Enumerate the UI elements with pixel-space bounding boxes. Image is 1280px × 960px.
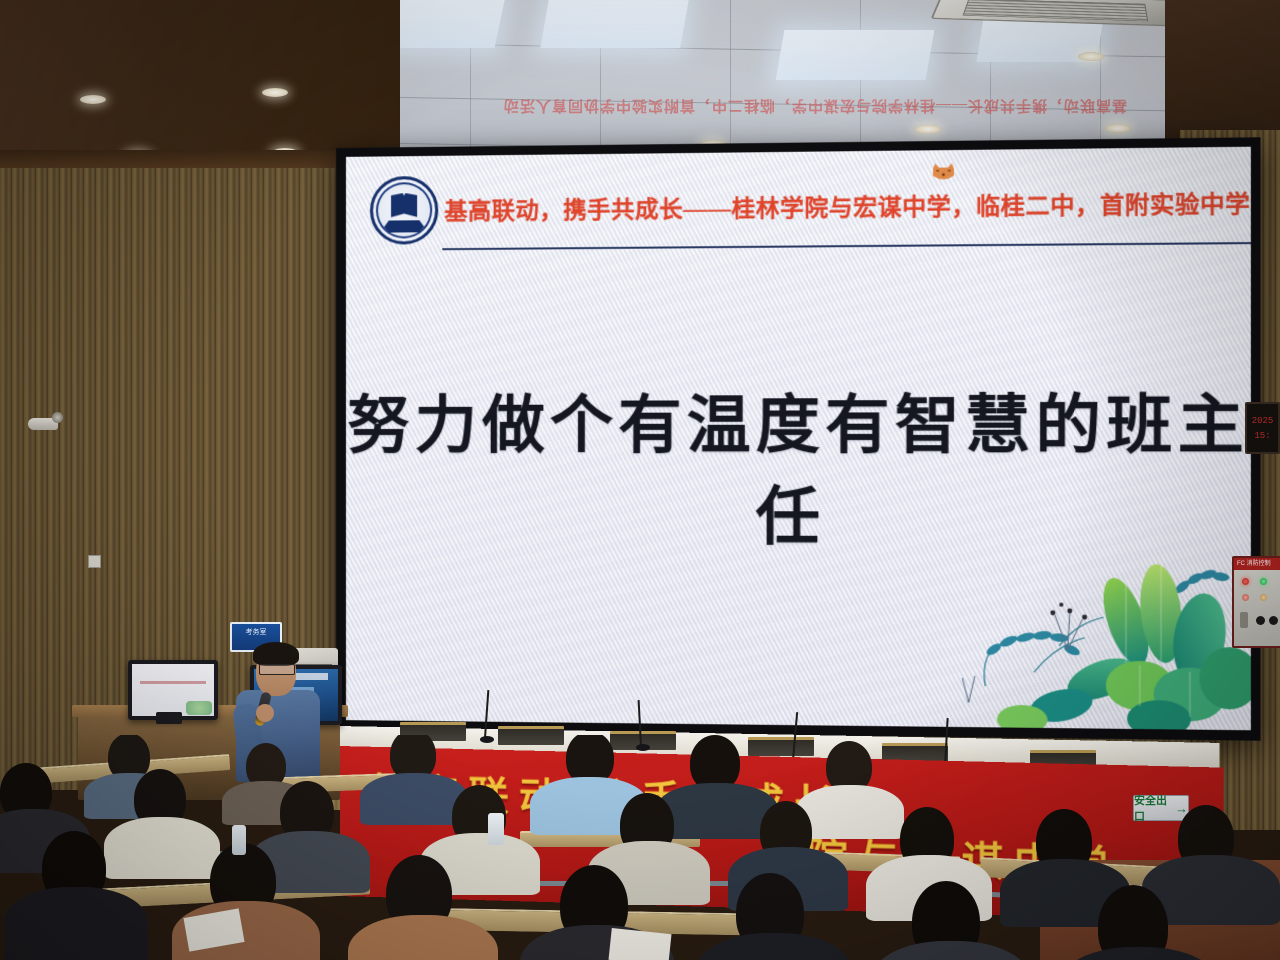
clock-date-line: 2025 — [1247, 414, 1278, 429]
water-bottle — [232, 825, 246, 855]
green-plant-illustration-icon — [933, 522, 1251, 730]
guilin-university-emblem-icon — [370, 176, 438, 245]
ceiling-downlight — [1078, 52, 1104, 61]
digital-clock-display: 2025 15: — [1245, 402, 1280, 454]
ceiling-downlight — [1105, 124, 1131, 133]
projection-screen: 基高联动，携手共成长——桂林学院与宏谋中学，临桂二中，首附实验中学协同育人活动 … — [336, 137, 1261, 740]
security-camera-lens-icon — [52, 412, 63, 423]
fire-panel-led-amber — [1260, 594, 1267, 601]
room-sign-label: 考务室 — [246, 629, 267, 636]
ceiling-banner-reflection: 基高联动，携手共成长——桂林学院与宏谋中学，临桂二中，首附实验中学协同育人活动 — [420, 96, 1210, 117]
fire-panel-led-green — [1260, 578, 1267, 585]
ceiling-panel-light — [540, 0, 690, 48]
slide-banner-text: 基高联动，携手共成长——桂林学院与宏谋中学，临桂二中，首附实验中学协同育人活动 — [444, 184, 1236, 226]
audience-body — [104, 817, 220, 879]
audience-body — [872, 941, 1030, 960]
ceiling-panel-light — [776, 30, 935, 80]
fire-panel-button[interactable] — [1256, 616, 1265, 625]
paper-notes — [608, 928, 671, 960]
ceiling-downlight — [80, 95, 106, 104]
ceiling-downlight — [262, 88, 288, 97]
audience-seating-area — [0, 735, 1280, 960]
clock-time-line: 15: — [1247, 429, 1278, 444]
presenter-hair — [253, 642, 299, 666]
slide-surface: 基高联动，携手共成长——桂林学院与宏谋中学，临桂二中，首附实验中学协同育人活动 … — [346, 147, 1251, 731]
fire-panel-button[interactable] — [1269, 616, 1278, 625]
fire-panel-led-dim — [1242, 594, 1249, 601]
slide-header-rule — [442, 242, 1251, 250]
audience-body — [696, 933, 852, 960]
wall-trim — [0, 150, 345, 168]
wall-outlet — [88, 555, 101, 568]
monitor-left-stand — [156, 712, 182, 724]
fire-panel-switch[interactable] — [1240, 612, 1248, 628]
audience-body — [1058, 947, 1220, 960]
presenter-hand — [256, 704, 274, 722]
water-bottle — [488, 813, 504, 845]
fire-alarm-panel[interactable]: FC 消防控制 — [1232, 556, 1280, 648]
ceiling-grid-line — [730, 0, 731, 165]
monitor-left — [128, 660, 218, 720]
ceiling-downlight — [915, 125, 941, 134]
audience-body — [796, 785, 904, 839]
lecture-hall-photo: 基高联动，携手共成长——桂林学院与宏谋中学，临桂二中，首附实验中学协同育人活动 … — [0, 0, 1280, 960]
audience-body — [4, 887, 148, 960]
ceiling-grid-line — [860, 0, 861, 162]
fire-panel-label: FC 消防控制 — [1234, 558, 1280, 570]
glasses-icon — [259, 664, 295, 675]
cat-cursor-icon — [930, 162, 957, 183]
fire-panel-led-red — [1242, 578, 1249, 585]
